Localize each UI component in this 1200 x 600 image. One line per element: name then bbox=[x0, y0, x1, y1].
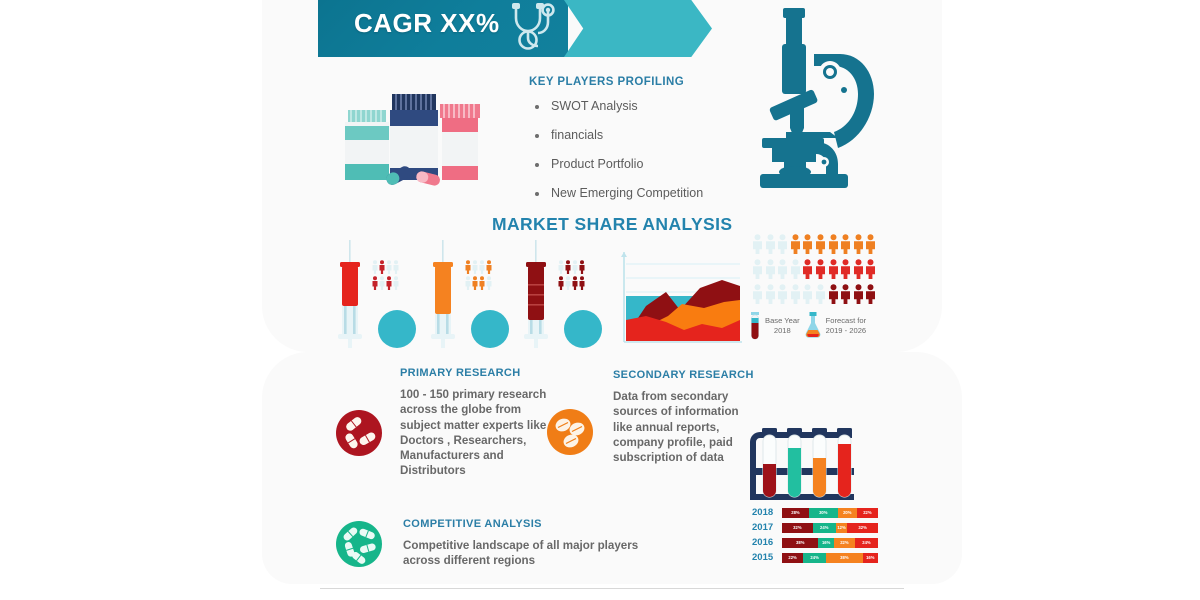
picto-row-3 bbox=[752, 284, 882, 304]
competitive-analysis-title: COMPETITIVE ANALYSIS bbox=[403, 518, 673, 530]
person-icon bbox=[840, 259, 851, 279]
key-players-list: SWOT Analysis financials Product Portfol… bbox=[529, 99, 744, 201]
person-icon bbox=[865, 234, 876, 254]
pill-capsule-icon bbox=[336, 410, 382, 456]
person-icon bbox=[479, 276, 485, 290]
picto-row bbox=[558, 276, 606, 290]
competitive-analysis-body: Competitive landscape of all major playe… bbox=[403, 538, 673, 569]
syringe-group-c bbox=[520, 240, 606, 348]
primary-research-title: PRIMARY RESEARCH bbox=[400, 367, 548, 379]
person-icon bbox=[486, 260, 492, 274]
yearly-stacked-share-chart: 2018 28% 30% 20% 22% 2017 32% 24% 12% 32… bbox=[752, 506, 884, 566]
person-icon bbox=[565, 276, 571, 290]
person-icon bbox=[372, 260, 378, 274]
person-icon bbox=[393, 260, 399, 274]
person-icon bbox=[777, 259, 788, 279]
syringe-chart bbox=[334, 240, 606, 348]
bar-track: 38% 16% 22% 24% bbox=[782, 538, 878, 548]
person-icon bbox=[558, 260, 564, 274]
tube-1 bbox=[762, 428, 777, 497]
bar-track: 28% 30% 20% 22% bbox=[782, 508, 878, 518]
person-icon bbox=[752, 259, 763, 279]
cagr-banner: CAGR XX% bbox=[318, 0, 710, 57]
bar-segment: 38% bbox=[826, 553, 862, 563]
person-icon bbox=[790, 234, 801, 254]
table-row: 2015 22% 24% 38% 16% bbox=[752, 551, 884, 564]
tube-3 bbox=[812, 428, 827, 497]
person-icon bbox=[790, 284, 801, 304]
person-icon bbox=[479, 260, 485, 274]
person-icon bbox=[472, 260, 478, 274]
secondary-research-body: Data from secondary sources of informati… bbox=[613, 389, 755, 465]
list-item: financials bbox=[529, 128, 744, 143]
tablet-pills-glyph bbox=[547, 409, 593, 455]
forecast-label: Forecast for bbox=[826, 316, 867, 325]
teal-circle bbox=[471, 310, 509, 348]
person-icon bbox=[572, 276, 578, 290]
person-icon bbox=[840, 234, 851, 254]
pill-capsule-glyph bbox=[336, 410, 382, 456]
secondary-research-block: SECONDARY RESEARCH Data from secondary s… bbox=[613, 369, 755, 465]
syringe-icon bbox=[520, 240, 554, 348]
person-icon bbox=[465, 260, 471, 274]
bar-segment: 22% bbox=[782, 553, 803, 563]
bar-year-label: 2015 bbox=[752, 552, 782, 563]
competitive-analysis-block: COMPETITIVE ANALYSIS Competitive landsca… bbox=[403, 518, 673, 569]
person-icon bbox=[372, 276, 378, 290]
person-icon bbox=[379, 260, 385, 274]
microscope-icon bbox=[752, 2, 876, 194]
secondary-research-title: SECONDARY RESEARCH bbox=[613, 369, 755, 381]
person-icon bbox=[802, 234, 813, 254]
primary-research-block: PRIMARY RESEARCH 100 - 150 primary resea… bbox=[400, 367, 548, 479]
picto-row bbox=[465, 260, 513, 274]
person-icon bbox=[386, 276, 392, 290]
person-icon bbox=[840, 284, 851, 304]
test-tube-icon bbox=[748, 311, 762, 341]
people-pictogram-b bbox=[465, 260, 513, 292]
person-icon bbox=[558, 276, 564, 290]
bottom-divider bbox=[320, 588, 904, 589]
capsules-icon bbox=[336, 521, 382, 567]
pictogram-market-share bbox=[752, 234, 882, 306]
person-icon bbox=[777, 234, 788, 254]
teal-circle bbox=[378, 310, 416, 348]
forecast-value: 2019 - 2026 bbox=[826, 326, 867, 335]
bar-track: 32% 24% 12% 32% bbox=[782, 523, 878, 533]
bar-segment: 24% bbox=[803, 553, 826, 563]
person-icon bbox=[386, 260, 392, 274]
person-icon bbox=[865, 259, 876, 279]
person-icon bbox=[777, 284, 788, 304]
person-icon bbox=[486, 276, 492, 290]
person-icon bbox=[815, 234, 826, 254]
person-icon bbox=[828, 284, 839, 304]
person-icon bbox=[379, 276, 385, 290]
person-icon bbox=[765, 284, 776, 304]
person-icon bbox=[752, 284, 763, 304]
bar-segment: 38% bbox=[782, 538, 818, 548]
picto-row bbox=[372, 260, 420, 274]
bar-year-label: 2016 bbox=[752, 537, 782, 548]
test-tube-rack-icon bbox=[742, 424, 862, 506]
person-icon bbox=[828, 234, 839, 254]
bar-segment: 12% bbox=[836, 523, 848, 533]
chart-legend: Base Year 2018 Forecast for 2019 - 2026 bbox=[748, 310, 888, 342]
people-pictogram-c bbox=[558, 260, 606, 292]
person-icon bbox=[853, 259, 864, 279]
cagr-label: CAGR XX% bbox=[354, 8, 500, 39]
market-trend-area-chart bbox=[618, 248, 746, 348]
person-icon bbox=[853, 284, 864, 304]
teal-circle bbox=[564, 310, 602, 348]
table-row: 2017 32% 24% 12% 32% bbox=[752, 521, 884, 534]
primary-research-body: 100 - 150 primary research across the gl… bbox=[400, 387, 548, 479]
picto-row bbox=[465, 276, 513, 290]
table-row: 2016 38% 16% 22% 24% bbox=[752, 536, 884, 549]
key-players-block: KEY PLAYERS PROFILING SWOT Analysis fina… bbox=[529, 76, 744, 215]
picto-row bbox=[372, 276, 420, 290]
capsules-glyph bbox=[336, 521, 382, 567]
syringe-group-b bbox=[427, 240, 513, 348]
bar-track: 22% 24% 38% 16% bbox=[782, 553, 878, 563]
banner-chevron-block bbox=[564, 0, 712, 57]
person-icon bbox=[765, 234, 776, 254]
person-icon bbox=[579, 276, 585, 290]
person-icon bbox=[393, 276, 399, 290]
picto-row bbox=[558, 260, 606, 274]
person-icon bbox=[865, 284, 876, 304]
bar-segment: 24% bbox=[855, 538, 878, 548]
syringe-group-a bbox=[334, 240, 420, 348]
infographic-root: CAGR XX% bbox=[0, 0, 1200, 600]
flask-icon bbox=[803, 311, 823, 341]
bar-segment: 32% bbox=[847, 523, 878, 533]
list-item: Product Portfolio bbox=[529, 157, 744, 172]
person-icon bbox=[565, 260, 571, 274]
person-icon bbox=[828, 259, 839, 279]
bar-segment: 20% bbox=[838, 508, 857, 518]
person-icon bbox=[815, 284, 826, 304]
legend-base-year: Base Year 2018 bbox=[765, 316, 800, 337]
market-share-title: MARKET SHARE ANALYSIS bbox=[492, 214, 732, 235]
person-icon bbox=[465, 276, 471, 290]
person-icon bbox=[802, 284, 813, 304]
stethoscope-icon bbox=[506, 2, 562, 54]
person-icon bbox=[572, 260, 578, 274]
bar-segment: 32% bbox=[782, 523, 813, 533]
legend-forecast: Forecast for 2019 - 2026 bbox=[826, 316, 867, 337]
person-icon bbox=[579, 260, 585, 274]
base-year-label: Base Year bbox=[765, 316, 800, 325]
person-icon bbox=[752, 234, 763, 254]
bar-year-label: 2017 bbox=[752, 522, 782, 533]
bar-segment: 30% bbox=[809, 508, 838, 518]
people-pictogram-a bbox=[372, 260, 420, 292]
person-icon bbox=[815, 259, 826, 279]
bar-segment: 24% bbox=[813, 523, 836, 533]
tube-2 bbox=[787, 428, 802, 497]
bar-segment: 22% bbox=[857, 508, 878, 518]
key-players-title: KEY PLAYERS PROFILING bbox=[529, 76, 744, 88]
picto-row-1 bbox=[752, 234, 882, 254]
base-year-value: 2018 bbox=[774, 326, 791, 335]
person-icon bbox=[853, 234, 864, 254]
syringe-icon bbox=[427, 240, 461, 348]
person-icon bbox=[765, 259, 776, 279]
table-row: 2018 28% 30% 20% 22% bbox=[752, 506, 884, 519]
bar-segment: 22% bbox=[834, 538, 855, 548]
person-icon bbox=[472, 276, 478, 290]
picto-row-2 bbox=[752, 259, 882, 279]
person-icon bbox=[802, 259, 813, 279]
syringe-icon bbox=[334, 240, 368, 348]
bar-segment: 16% bbox=[818, 538, 833, 548]
tube-4 bbox=[837, 428, 852, 497]
tablet-pills-icon bbox=[547, 409, 593, 455]
bar-segment: 16% bbox=[863, 553, 878, 563]
pill-bottles-icon bbox=[340, 82, 490, 187]
list-item: SWOT Analysis bbox=[529, 99, 744, 114]
bar-segment: 28% bbox=[782, 508, 809, 518]
person-icon bbox=[790, 259, 801, 279]
list-item: New Emerging Competition bbox=[529, 186, 744, 201]
bar-year-label: 2018 bbox=[752, 507, 782, 518]
